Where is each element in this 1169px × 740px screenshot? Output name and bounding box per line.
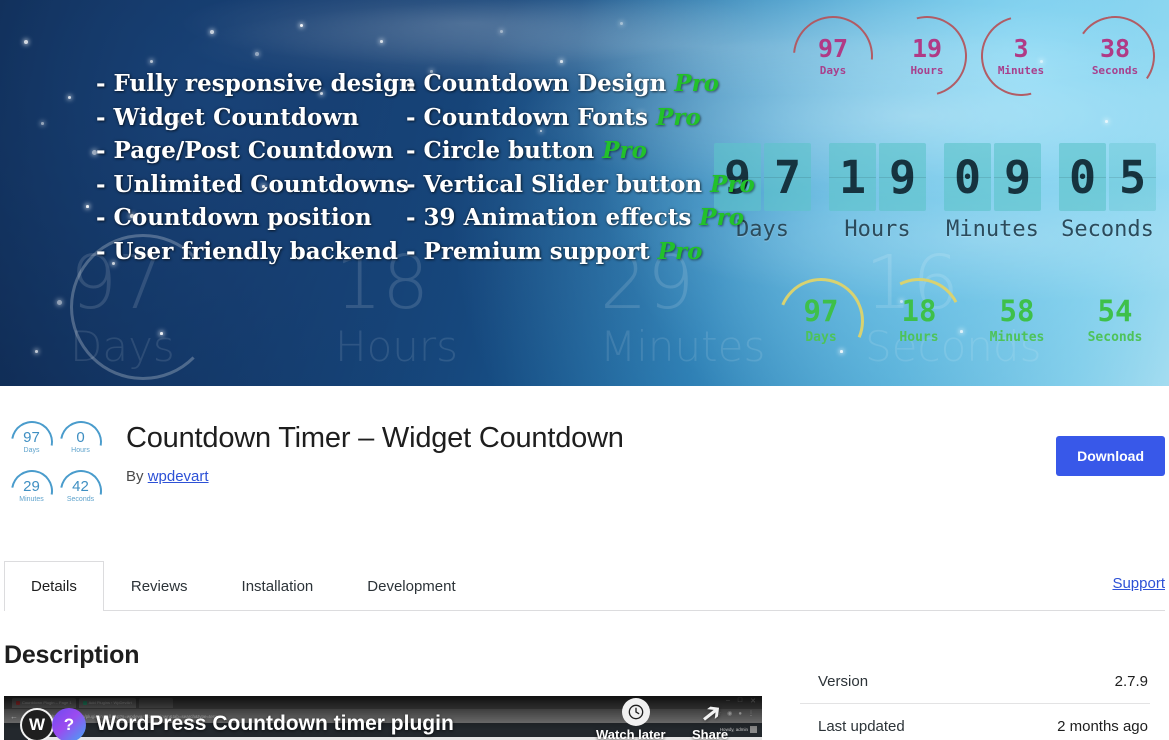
flip-label: Minutes [946, 217, 1039, 242]
flip-label: Hours [844, 217, 910, 242]
video-embed[interactable]: Countdown Plugin – Page 1 Add Plugins ‹ … [4, 696, 762, 740]
support-link[interactable]: Support [1112, 575, 1165, 592]
tab-details[interactable]: Details [4, 561, 104, 611]
pink-label: Minutes [998, 64, 1044, 77]
icon-value: 0 [76, 430, 84, 445]
icon-value: 97 [23, 430, 40, 445]
flip-digit: 5 [1109, 143, 1156, 211]
icon-label: Seconds [67, 496, 94, 503]
page-title: Countdown Timer – Widget Countdown [126, 422, 1165, 455]
flip-label: Seconds [1061, 217, 1154, 242]
pro-badge: Pro [656, 104, 701, 131]
flip-digit: 9 [879, 143, 926, 211]
pro-badge: Pro [699, 204, 744, 231]
meta-value: 2 months ago [1057, 718, 1148, 735]
content-area: Description Countdown Plugin – Page 1 Ad… [4, 641, 1165, 740]
pink-label: Days [820, 64, 847, 77]
feature-item: - Premium support Pro [406, 236, 736, 268]
plugin-icon: 97Days0Hours29Minutes42Seconds [8, 418, 104, 514]
meta-key: Last updated [818, 718, 905, 735]
green-countdown-unit: 54Seconds [1066, 278, 1164, 364]
feature-item: - Countdown Fonts Pro [406, 102, 736, 134]
page-wrap: 97Days0Hours29Minutes42Seconds Countdown… [0, 386, 1169, 740]
feature-label: - Countdown Design [406, 70, 674, 97]
flip-digits: 09 [944, 143, 1041, 211]
watch-later-label[interactable]: Watch later [596, 727, 666, 740]
video-title[interactable]: WordPress Countdown timer plugin [96, 712, 454, 736]
feature-item: - Circle button Pro [406, 135, 736, 167]
green-value: 58 [1000, 297, 1035, 326]
feature-item: - 39 Animation effects Pro [406, 202, 736, 234]
pink-value: 3 [1013, 36, 1028, 61]
flip-countdown-group: 19Hours [829, 143, 926, 242]
green-countdown-unit: 18Hours [870, 278, 968, 364]
feature-item: - Page/Post Countdown [96, 135, 392, 167]
feature-item: - Unlimited Countdowns [96, 169, 392, 201]
flip-digit: 0 [944, 143, 991, 211]
flip-digit: 9 [994, 143, 1041, 211]
youtube-overlay: W ? WordPress Countdown timer plugin ➔ W… [4, 696, 762, 740]
pink-countdown-unit: 97Days [786, 14, 880, 98]
green-label: Minutes [990, 330, 1045, 345]
icon-label: Minutes [19, 496, 44, 503]
meta-key: Version [818, 673, 868, 690]
green-value: 54 [1098, 297, 1133, 326]
green-countdown-unit: 58Minutes [968, 278, 1066, 364]
plugin-icon-cell: 42Seconds [57, 467, 104, 514]
meta-row: Last updated2 months ago [800, 704, 1150, 740]
flip-digit: 7 [764, 143, 811, 211]
green-value: 97 [804, 297, 839, 326]
tab-installation[interactable]: Installation [215, 561, 341, 611]
plugin-icon-cell: 0Hours [57, 418, 104, 465]
pink-value: 38 [1100, 36, 1130, 61]
plugin-banner: 97Days18Hours29Minutes16Seconds - Fully … [0, 0, 1169, 386]
pink-label: Seconds [1092, 64, 1138, 77]
feature-label: - 39 Animation effects [406, 204, 699, 231]
plugin-header: 97Days0Hours29Minutes42Seconds Countdown… [4, 386, 1165, 514]
meta-value: 2.7.9 [1115, 673, 1148, 690]
tab-reviews[interactable]: Reviews [104, 561, 215, 611]
icon-value: 29 [23, 479, 40, 494]
pink-countdown-unit: 19Hours [880, 14, 974, 98]
pro-badge: Pro [674, 70, 719, 97]
download-button[interactable]: Download [1056, 436, 1165, 476]
author-link[interactable]: wpdevart [148, 468, 209, 485]
icon-label: Hours [71, 447, 90, 454]
by-prefix: By [126, 468, 144, 485]
flip-countdown-group: 05Seconds [1059, 143, 1156, 242]
feature-item: - Fully responsive design [96, 68, 392, 100]
flip-digit: 0 [1059, 143, 1106, 211]
flip-digits: 05 [1059, 143, 1156, 211]
banner-flip-countdown: 97Days19Hours09Minutes05Seconds [714, 143, 1156, 242]
pro-badge: Pro [658, 238, 703, 265]
channel-avatar-q: ? [52, 708, 86, 740]
green-countdown-unit: 97Days [772, 278, 870, 364]
feature-item: - Countdown position [96, 202, 392, 234]
banner-feature-lists: - Fully responsive design- Widget Countd… [96, 68, 736, 267]
description-heading: Description [4, 641, 764, 670]
tabs-bar: DetailsReviewsInstallationDevelopment Su… [4, 561, 1165, 611]
ghost-label: Hours [335, 322, 582, 371]
tabs-list: DetailsReviewsInstallationDevelopment [4, 561, 1165, 611]
feature-item: - Vertical Slider button Pro [406, 169, 736, 201]
feature-label: - Circle button [406, 137, 602, 164]
flip-digit: 1 [829, 143, 876, 211]
green-label: Seconds [1088, 330, 1143, 345]
share-label[interactable]: Share [692, 727, 728, 740]
feature-item: - Widget Countdown [96, 102, 392, 134]
tab-development[interactable]: Development [340, 561, 482, 611]
plugin-icon-cell: 97Days [8, 418, 55, 465]
plugin-icon-cell: 29Minutes [8, 467, 55, 514]
pink-countdown-unit: 38Seconds [1068, 14, 1162, 98]
flip-countdown-group: 09Minutes [944, 143, 1041, 242]
description-column: Description Countdown Plugin – Page 1 Ad… [4, 641, 764, 740]
watch-later-icon[interactable] [622, 698, 650, 726]
plugin-header-text: Countdown Timer – Widget Countdown By wp… [126, 418, 1165, 485]
pink-value: 19 [912, 36, 942, 61]
plugin-meta-sidebar: Version2.7.9Last updated2 months agoActi… [800, 641, 1150, 740]
icon-value: 42 [72, 479, 89, 494]
green-value: 18 [902, 297, 937, 326]
feature-item: - Countdown Design Pro [406, 68, 736, 100]
feature-list-left: - Fully responsive design- Widget Countd… [96, 68, 392, 267]
pink-label: Hours [910, 64, 943, 77]
feature-item: - User friendly backend [96, 236, 392, 268]
pink-value: 97 [818, 36, 848, 61]
pro-badge: Pro [710, 171, 755, 198]
feature-label: - Vertical Slider button [406, 171, 710, 198]
green-label: Days [805, 330, 836, 345]
green-label: Hours [899, 330, 938, 345]
banner-pink-countdown: 97Days19Hours3Minutes38Seconds [786, 14, 1162, 98]
meta-row: Version2.7.9 [800, 659, 1150, 704]
flip-digits: 19 [829, 143, 926, 211]
pink-countdown-unit: 3Minutes [974, 14, 1068, 98]
icon-label: Days [24, 447, 40, 454]
plugin-author: By wpdevart [126, 468, 1165, 485]
feature-label: - Countdown Fonts [406, 104, 656, 131]
feature-list-right: - Countdown Design Pro- Countdown Fonts … [406, 68, 736, 267]
channel-avatar-w: W [20, 708, 54, 740]
ghost-label: Days [70, 322, 317, 371]
banner-green-countdown: 97Days18Hours58Minutes54Seconds [772, 278, 1164, 364]
pro-badge: Pro [602, 137, 647, 164]
feature-label: - Premium support [406, 238, 658, 265]
